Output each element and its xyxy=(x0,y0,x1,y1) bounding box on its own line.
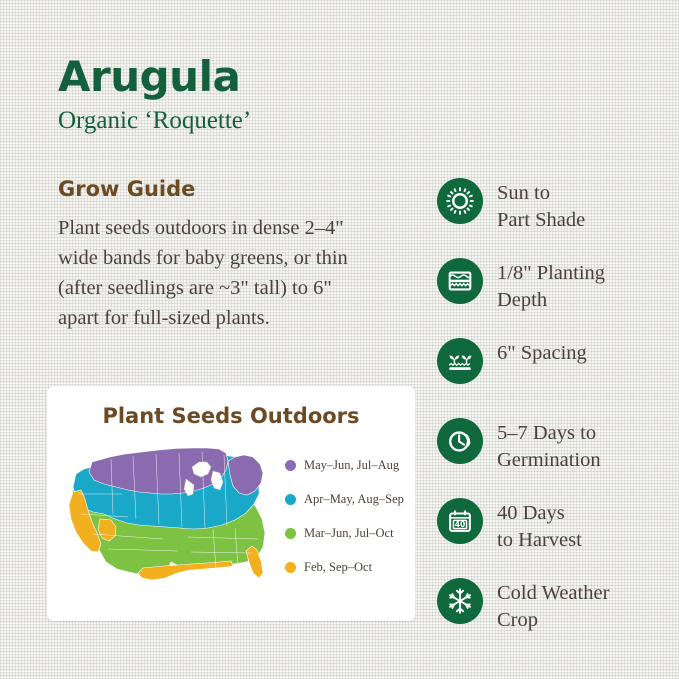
planting-depth-icon xyxy=(437,258,483,304)
legend-item: May–Jun, Jul–Aug xyxy=(285,458,404,473)
calendar-icon: 40 xyxy=(437,498,483,544)
seed-packet-info-sheet: Arugula Organic ‘Roquette’ Grow Guide Pl… xyxy=(0,0,679,679)
map-card-title: Plant Seeds Outdoors xyxy=(47,404,415,428)
grow-guide-heading: Grow Guide xyxy=(58,177,195,201)
condition-label: 5–7 Days to Germination xyxy=(497,418,601,474)
snowflake-icon xyxy=(437,578,483,624)
condition-label: 40 Days to Harvest xyxy=(497,498,582,554)
map-legend: May–Jun, Jul–Aug Apr–May, Aug–Sep Mar–Ju… xyxy=(285,458,404,594)
sun-icon xyxy=(437,178,483,224)
growing-conditions-list: Sun to Part Shade 1/8" Planting Depth xyxy=(437,178,609,658)
calendar-days-number: 40 xyxy=(455,520,465,529)
condition-item-planting-depth: 1/8" Planting Depth xyxy=(437,258,609,315)
grow-guide-line: Plant seeds outdoors in dense 2–4" xyxy=(58,213,388,243)
legend-color-swatch xyxy=(285,528,296,539)
condition-item-sun: Sun to Part Shade xyxy=(437,178,609,235)
condition-item-spacing: 6" Spacing xyxy=(437,338,609,395)
legend-color-swatch xyxy=(285,494,296,505)
grow-guide-line: apart for full-sized plants. xyxy=(58,303,388,333)
legend-color-swatch xyxy=(285,460,296,471)
legend-label: Mar–Jun, Jul–Oct xyxy=(304,526,394,541)
united-states-planting-zone-map xyxy=(63,444,278,584)
spacing-icon xyxy=(437,338,483,384)
grow-guide-line: wide bands for baby greens, or thin xyxy=(58,243,388,273)
condition-item-cold-weather: Cold Weather Crop xyxy=(437,578,609,635)
condition-label: Cold Weather Crop xyxy=(497,578,609,634)
page-subtitle: Organic ‘Roquette’ xyxy=(58,107,251,135)
page-title: Arugula xyxy=(58,56,240,98)
grow-guide-line: (after seedlings are ~3" tall) to 6" xyxy=(58,273,388,303)
grow-guide-body: Plant seeds outdoors in dense 2–4" wide … xyxy=(58,213,388,334)
condition-item-germination: 5–7 Days to Germination xyxy=(437,418,609,475)
legend-label: Feb, Sep–Oct xyxy=(304,560,372,575)
legend-label: Apr–May, Aug–Sep xyxy=(304,492,404,507)
planting-map-card: Plant Seeds Outdoors xyxy=(47,386,415,621)
legend-label: May–Jun, Jul–Aug xyxy=(304,458,399,473)
condition-label: 6" Spacing xyxy=(497,338,587,367)
legend-item: Mar–Jun, Jul–Oct xyxy=(285,526,404,541)
legend-color-swatch xyxy=(285,562,296,573)
legend-item: Apr–May, Aug–Sep xyxy=(285,492,404,507)
condition-label: Sun to Part Shade xyxy=(497,178,585,234)
clock-icon xyxy=(437,418,483,464)
legend-item: Feb, Sep–Oct xyxy=(285,560,404,575)
condition-label: 1/8" Planting Depth xyxy=(497,258,605,314)
condition-item-harvest: 40 40 Days to Harvest xyxy=(437,498,609,555)
